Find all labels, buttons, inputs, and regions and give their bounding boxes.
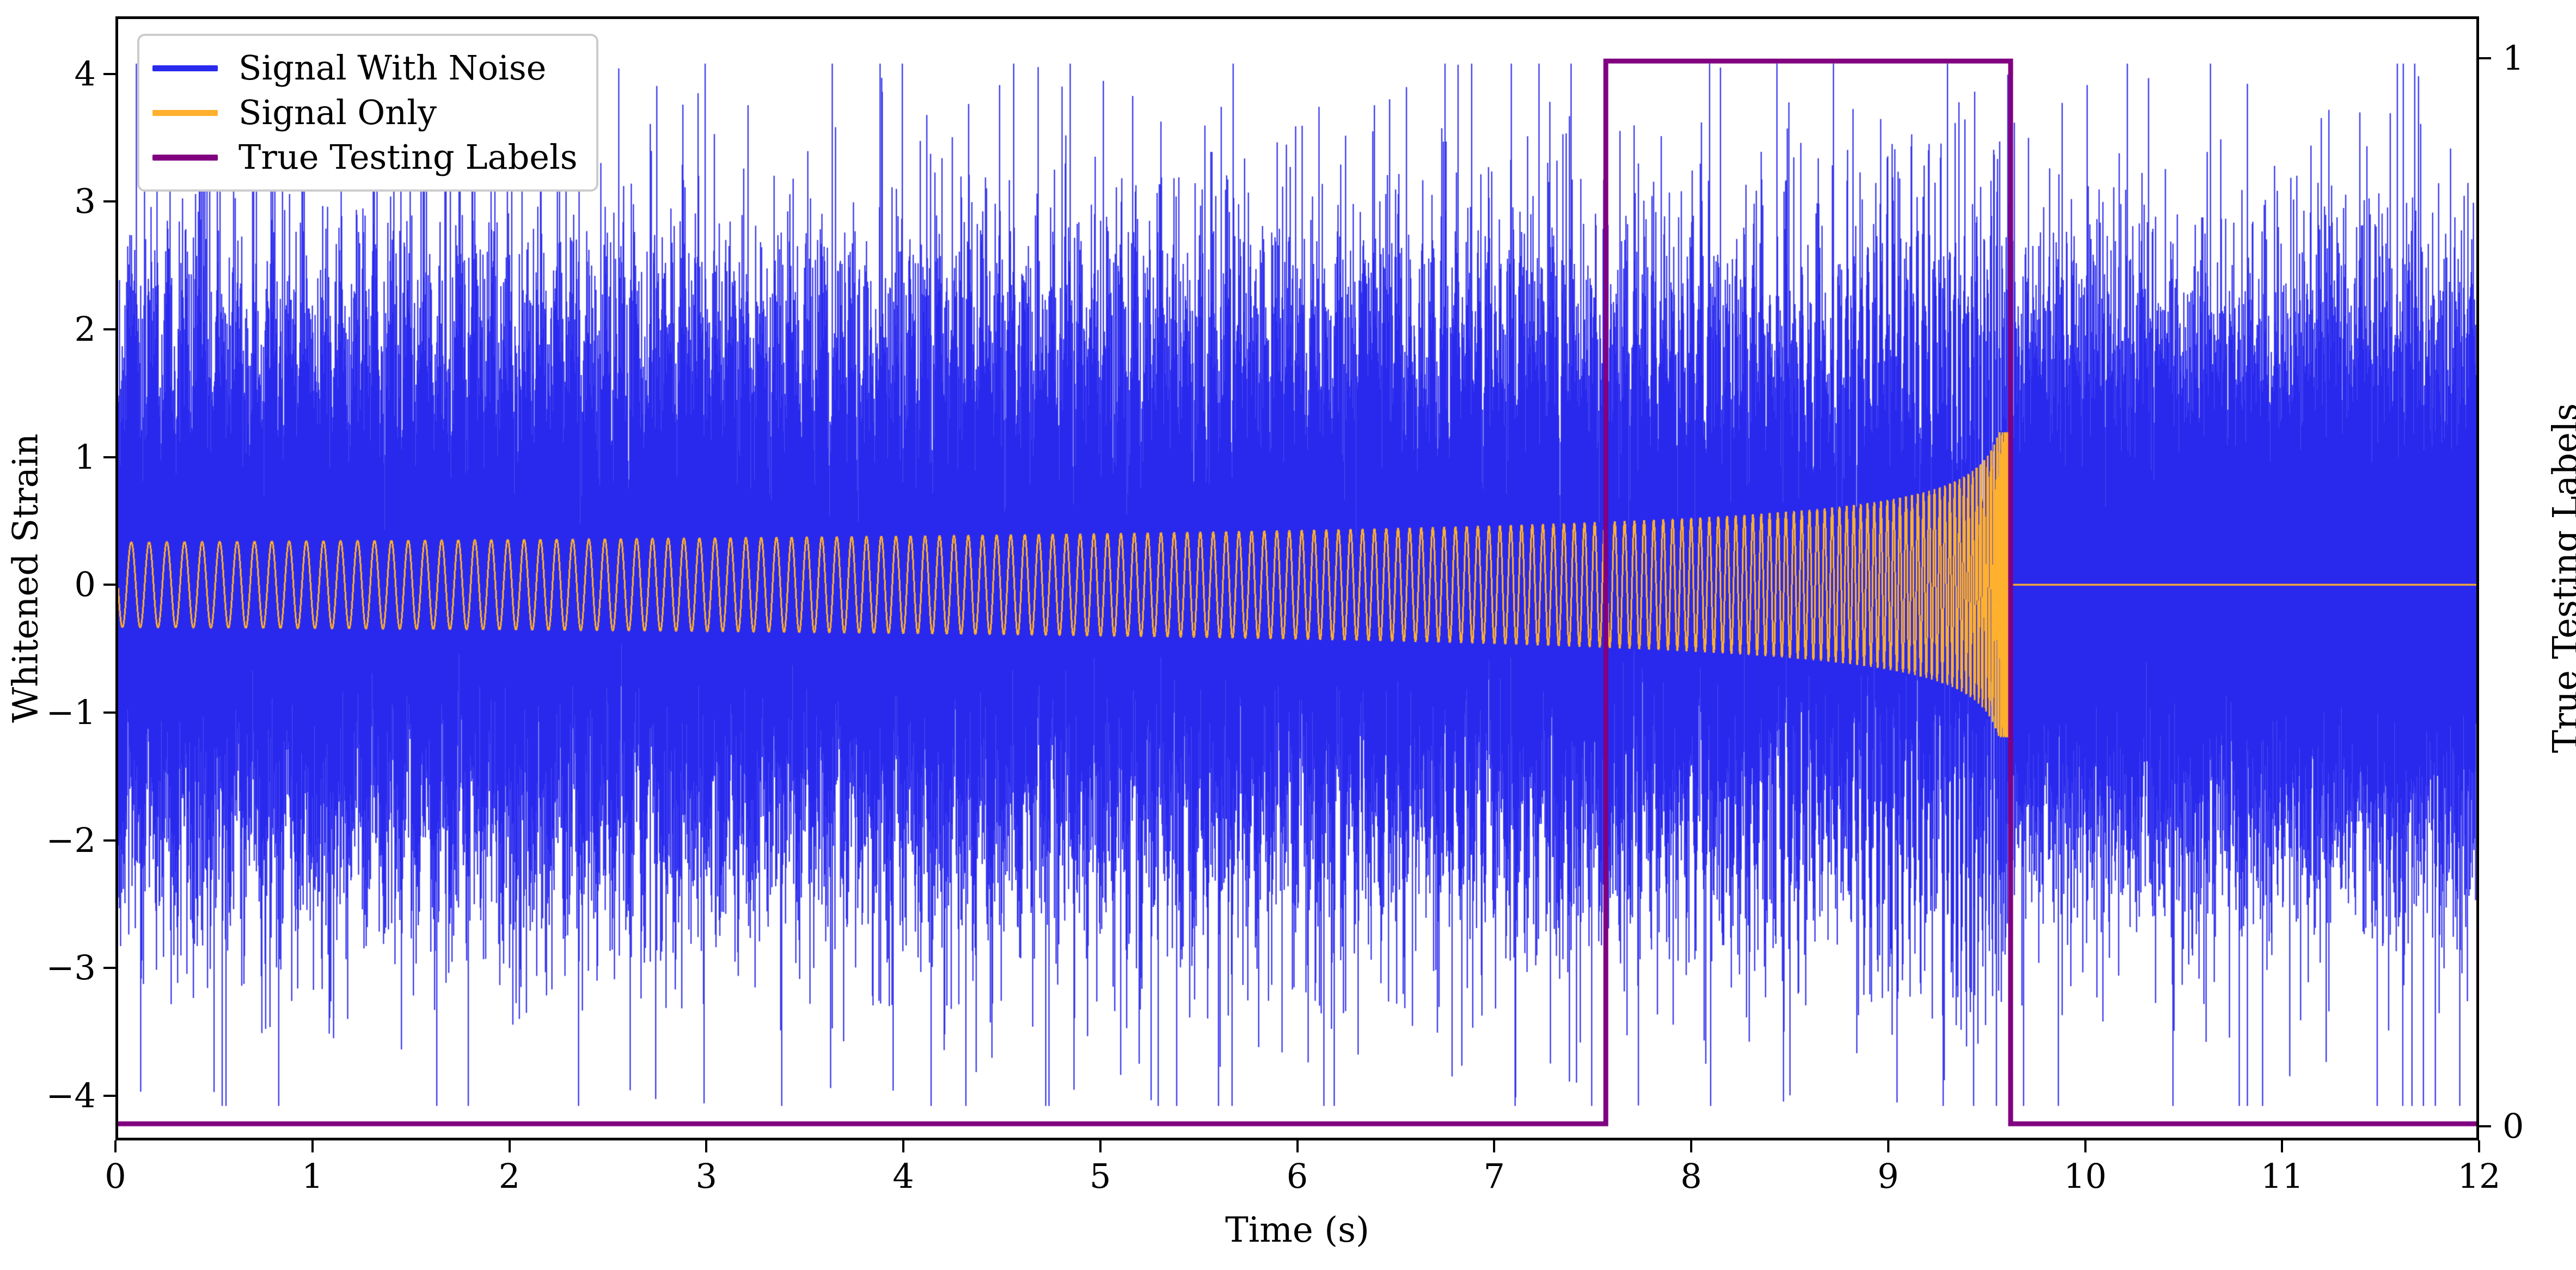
- y-tick-label-left: 0: [75, 568, 96, 602]
- x-tick-label: 9: [1877, 1159, 1899, 1193]
- legend-item-true-testing-labels[interactable]: True Testing Labels: [152, 135, 578, 180]
- y-tick-mark-left: [103, 584, 115, 586]
- x-tick-label: 8: [1680, 1159, 1702, 1193]
- x-tick-mark: [2084, 1140, 2087, 1152]
- chart-figure: 012345678910111243210−1−2−3−410 Time (s)…: [0, 0, 2576, 1270]
- x-tick-mark: [1690, 1140, 1692, 1152]
- x-tick-label: 12: [2458, 1159, 2501, 1193]
- x-tick-mark: [1296, 1140, 1299, 1152]
- x-tick-label: 5: [1090, 1159, 1111, 1193]
- x-tick-label: 1: [302, 1159, 323, 1193]
- legend-item-signal-only[interactable]: Signal Only: [152, 90, 578, 135]
- x-tick-label: 6: [1287, 1159, 1308, 1193]
- y-tick-mark-left: [103, 839, 115, 842]
- x-tick-mark: [2478, 1140, 2480, 1152]
- y-tick-label-left: −1: [46, 696, 96, 729]
- x-tick-mark: [902, 1140, 904, 1152]
- y-tick-mark-left: [103, 73, 115, 75]
- legend-line-blue-icon: [152, 65, 218, 71]
- y-axis-label-left: Whitened Strain: [9, 16, 44, 1140]
- x-tick-label: 3: [696, 1159, 717, 1193]
- x-tick-label: 11: [2261, 1159, 2304, 1193]
- y-tick-label-left: −3: [46, 951, 96, 985]
- y-tick-label-left: −4: [46, 1079, 96, 1113]
- x-tick-mark: [509, 1140, 511, 1152]
- x-axis-label: Time (s): [115, 1213, 2479, 1248]
- y-tick-label-right: 0: [2502, 1109, 2524, 1143]
- y-tick-label-left: 4: [75, 57, 96, 91]
- legend-line-purple-icon: [152, 155, 218, 161]
- x-tick-mark: [311, 1140, 314, 1152]
- y-tick-label-left: 1: [75, 440, 96, 474]
- y-tick-mark-left: [103, 200, 115, 203]
- x-tick-mark: [1887, 1140, 1889, 1152]
- y-tick-mark-left: [103, 456, 115, 458]
- x-tick-label: 4: [892, 1159, 914, 1193]
- y-tick-mark-right: [2479, 57, 2491, 59]
- y-tick-mark-right: [2479, 1125, 2491, 1127]
- x-tick-label: 2: [499, 1159, 520, 1193]
- y-tick-label-left: −2: [46, 824, 96, 857]
- x-tick-label: 0: [105, 1159, 126, 1193]
- x-tick-mark: [1493, 1140, 1495, 1152]
- legend-line-orange-icon: [152, 110, 218, 116]
- y-tick-mark-left: [103, 711, 115, 714]
- legend-label-signal-with-noise: Signal With Noise: [238, 51, 546, 85]
- x-tick-label: 10: [2064, 1159, 2107, 1193]
- y-axis-label-right: True Testing Labels: [2549, 16, 2576, 1140]
- y-tick-mark-left: [103, 328, 115, 330]
- y-tick-label-left: 2: [75, 312, 96, 346]
- y-tick-mark-left: [103, 1095, 115, 1097]
- x-tick-mark: [1099, 1140, 1102, 1152]
- chart-legend: Signal With Noise Signal Only True Testi…: [137, 34, 598, 192]
- legend-label-true-testing-labels: True Testing Labels: [238, 140, 578, 174]
- x-tick-mark: [114, 1140, 117, 1152]
- legend-label-signal-only: Signal Only: [238, 96, 437, 130]
- x-tick-label: 7: [1484, 1159, 1505, 1193]
- legend-item-signal-with-noise[interactable]: Signal With Noise: [152, 46, 578, 90]
- y-tick-label-right: 1: [2502, 41, 2524, 75]
- x-tick-mark: [2281, 1140, 2283, 1152]
- y-tick-label-left: 3: [75, 185, 96, 218]
- x-tick-mark: [705, 1140, 707, 1152]
- y-tick-mark-left: [103, 967, 115, 969]
